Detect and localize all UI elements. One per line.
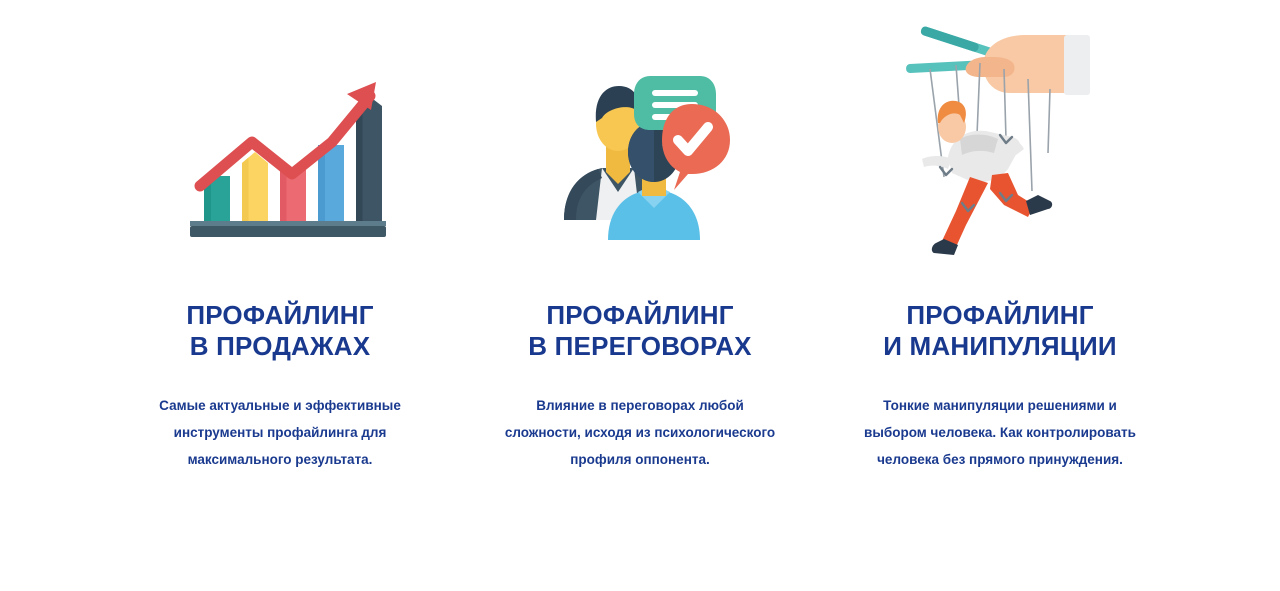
sleeve-cuff xyxy=(1064,35,1090,95)
growth-bar-chart-illustration xyxy=(112,0,448,300)
card-title-sales: ПРОФАЙЛИНГ В ПРОДАЖАХ xyxy=(186,300,373,362)
puppet-leg-left xyxy=(942,177,988,247)
speech-bubble-line-1 xyxy=(652,90,698,96)
chart-bar-yellow-shade xyxy=(242,158,249,222)
puppet-string-6 xyxy=(1048,89,1050,153)
control-bar-diagonal-shade xyxy=(920,26,980,53)
card-title-negotiations: ПРОФАЙЛИНГ В ПЕРЕГОВОРАХ xyxy=(528,300,751,362)
feature-card-sales[interactable]: ПРОФАЙЛИНГ В ПРОДАЖАХ Самые актуальные и… xyxy=(100,0,460,473)
puppet-shoe-right xyxy=(1026,195,1052,215)
chart-bar-red-shade xyxy=(280,168,287,221)
puppet-arm-left xyxy=(922,156,952,169)
card-title-manipulation: ПРОФАЙЛИНГ И МАНИПУЛЯЦИИ xyxy=(883,300,1117,362)
trend-arrow-line xyxy=(200,96,370,186)
people-discussion-illustration xyxy=(472,0,808,300)
feature-card-negotiations[interactable]: ПРОФАЙЛИНГ В ПЕРЕГОВОРАХ Влияние в перег… xyxy=(460,0,820,473)
thumb-shape xyxy=(966,57,1015,77)
puppet-string-5 xyxy=(1028,79,1032,191)
card-description-sales: Самые актуальные и эффективные инструмен… xyxy=(130,362,430,473)
card-description-negotiations: Влияние в переговорах любой сложности, и… xyxy=(498,362,783,473)
card-description-manipulation: Тонкие манипуляции решениями и выбором ч… xyxy=(855,362,1145,473)
puppet-figure xyxy=(922,101,1052,255)
joint-tie-arm-left xyxy=(940,167,952,175)
marionette-puppet-illustration xyxy=(832,0,1168,300)
chart-base-top xyxy=(190,221,386,226)
speech-bubble-approval xyxy=(662,104,730,190)
feature-card-manipulation[interactable]: ПРОФАЙЛИНГ И МАНИПУЛЯЦИИ Тонкие манипуля… xyxy=(820,0,1180,473)
features-section: ПРОФАЙЛИНГ В ПРОДАЖАХ Самые актуальные и… xyxy=(0,0,1280,591)
chart-base xyxy=(190,226,386,237)
